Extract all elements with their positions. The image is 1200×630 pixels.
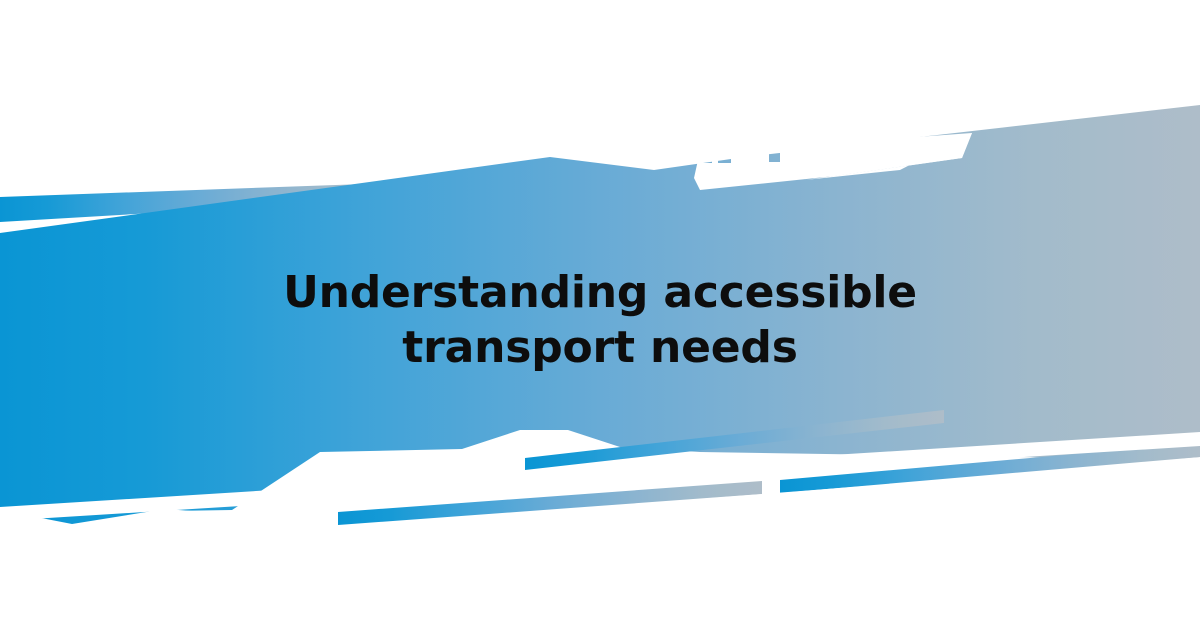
banner-card: Understanding accessible transport needs (0, 0, 1200, 630)
abstract-banner-graphic (0, 0, 1200, 630)
